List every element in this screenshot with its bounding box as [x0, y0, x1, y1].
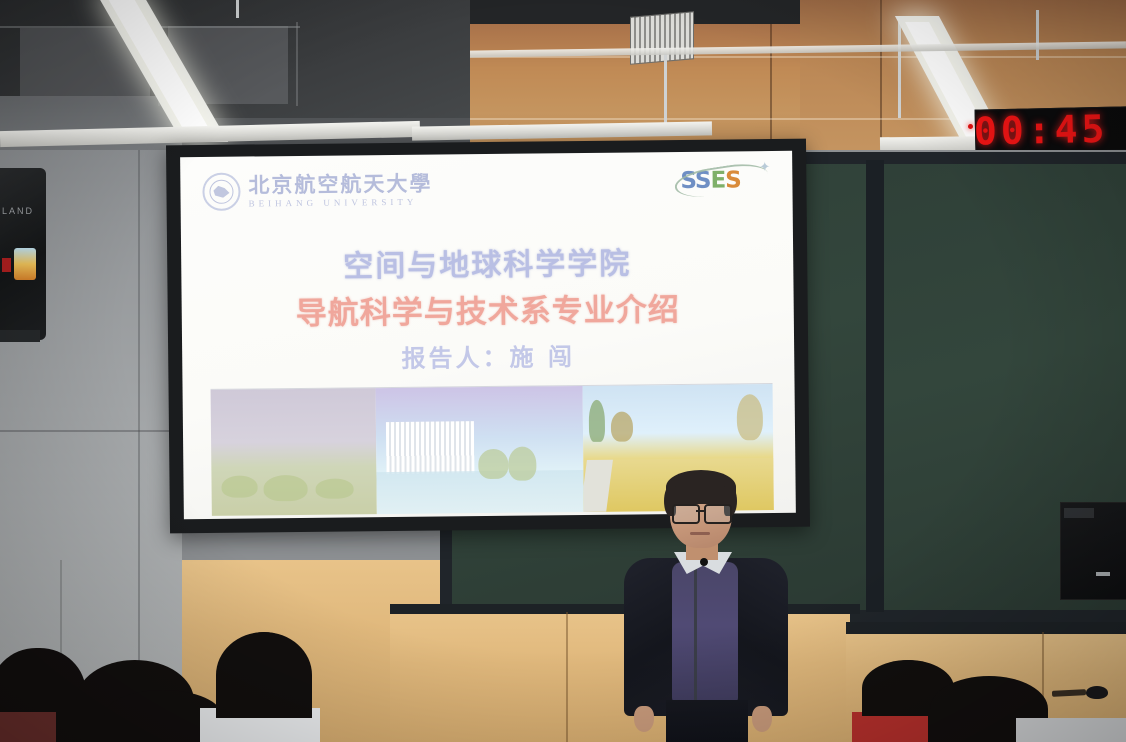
- wall-seam-horizontal: [470, 56, 1126, 58]
- seal-emblem-icon: [213, 186, 229, 198]
- clock-indicator-dot: [968, 124, 973, 129]
- slide-title-line2: 导航科学与技术系专业介绍: [181, 283, 793, 334]
- blackboard-ledge-right: [846, 622, 1126, 634]
- slide-title-line1: 空间与地球科学学院: [181, 237, 793, 287]
- ceiling-rod: [898, 22, 901, 118]
- university-logo: 北京航空航天大學 BEIHANG UNIVERSITY: [202, 171, 432, 211]
- presenter: [618, 470, 794, 742]
- presenter-mouth: [690, 532, 710, 535]
- wall-clock: 00:45: [975, 106, 1126, 153]
- mouse[interactable]: [1086, 686, 1108, 699]
- wall-seam: [0, 430, 182, 432]
- wall-seam: [880, 0, 882, 150]
- microphone-icon: [700, 558, 708, 566]
- glasses-bridge-icon: [696, 510, 704, 512]
- glasses-icon: [704, 504, 732, 524]
- speaker-red-marker: [2, 258, 11, 272]
- wall-seam: [770, 24, 772, 152]
- speaker-brand-label: LAND: [2, 206, 34, 216]
- wall-seam: [138, 150, 140, 742]
- presenter-legs: [666, 700, 748, 742]
- clock-time-display: 00:45: [975, 110, 1109, 151]
- presenter-hand-right: [752, 706, 772, 732]
- audience-member-shirt: [1016, 718, 1126, 742]
- ceiling-wall-left: [0, 96, 182, 156]
- university-name-chinese: 北京航空航天大學: [248, 173, 432, 196]
- wood-panel-seam: [566, 612, 568, 742]
- ceiling-grid-line: [296, 22, 298, 106]
- wall-mount-plate: [0, 330, 40, 342]
- slide-presenter-line: 报告人：施 闯: [182, 335, 794, 376]
- audience-member-shirt: [0, 712, 56, 742]
- sses-arc-icon: [673, 160, 770, 202]
- campus-aerial-photo: [211, 388, 378, 516]
- university-seal-icon: [202, 173, 240, 211]
- sses-logo: ✦ SSES: [680, 169, 766, 200]
- audience-member-hair: [216, 632, 312, 718]
- presenter-jacket-zipper: [694, 566, 697, 706]
- glasses-icon: [672, 504, 700, 524]
- presenter-sweater: [672, 562, 738, 702]
- lecture-hall-photo: 00:45 LAND 北京航空航天大學: [0, 0, 1126, 742]
- speaker-indicator-light: [14, 248, 36, 280]
- projected-slide: 北京航空航天大學 BEIHANG UNIVERSITY ✦ SSES 空间与地球…: [180, 151, 796, 519]
- monitor-screen-glint: [1064, 508, 1094, 518]
- ceiling-rod: [664, 48, 667, 124]
- university-name-english: BEIHANG UNIVERSITY: [249, 197, 433, 209]
- presenter-hand-left: [634, 706, 654, 732]
- monitor-control-button[interactable]: [1096, 572, 1110, 576]
- air-vent-icon: [630, 11, 694, 65]
- ceiling-rod: [236, 0, 239, 18]
- audience-member-shirt: [852, 712, 928, 742]
- campus-building-photo: [376, 386, 584, 514]
- ceiling-rod: [1036, 10, 1039, 60]
- sses-star-icon: ✦: [759, 159, 770, 175]
- blackboard-divider: [866, 160, 884, 612]
